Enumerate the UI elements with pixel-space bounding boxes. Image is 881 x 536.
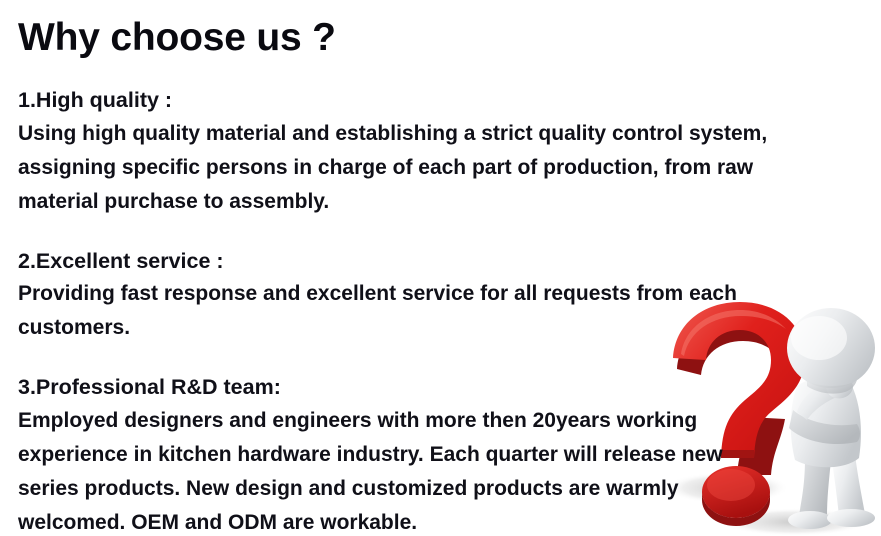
section-body-1: Using high quality material and establis… — [18, 117, 863, 219]
content-column: Why choose us ? 1.High quality : Using h… — [18, 0, 863, 536]
section-body-3: Employed designers and engineers with mo… — [18, 404, 863, 536]
section-heading-3: 3.Professional R&D team: — [18, 372, 863, 403]
section-heading-1: 1.High quality : — [18, 85, 863, 116]
section-professional-rd-team: 3.Professional R&D team: Employed design… — [18, 372, 863, 536]
body-line: Employed designers and engineers with mo… — [18, 404, 863, 438]
slide-canvas: Why choose us ? 1.High quality : Using h… — [0, 0, 881, 536]
section-heading-2: 2.Excellent service : — [18, 246, 863, 277]
body-line: assigning specific persons in charge of … — [18, 151, 863, 185]
body-line: Providing fast response and excellent se… — [18, 277, 863, 311]
section-excellent-service: 2.Excellent service : Providing fast res… — [18, 246, 863, 346]
body-line: customers. — [18, 311, 863, 345]
page-title: Why choose us ? — [18, 0, 863, 57]
body-line: welcomed. OEM and ODM are workable. — [18, 506, 863, 536]
body-line: material purchase to assembly. — [18, 185, 863, 219]
body-line: experience in kitchen hardware industry.… — [18, 438, 863, 472]
section-body-2: Providing fast response and excellent se… — [18, 277, 863, 345]
section-high-quality: 1.High quality : Using high quality mate… — [18, 85, 863, 219]
body-line: Using high quality material and establis… — [18, 117, 863, 151]
body-line: series products. New design and customiz… — [18, 472, 863, 506]
